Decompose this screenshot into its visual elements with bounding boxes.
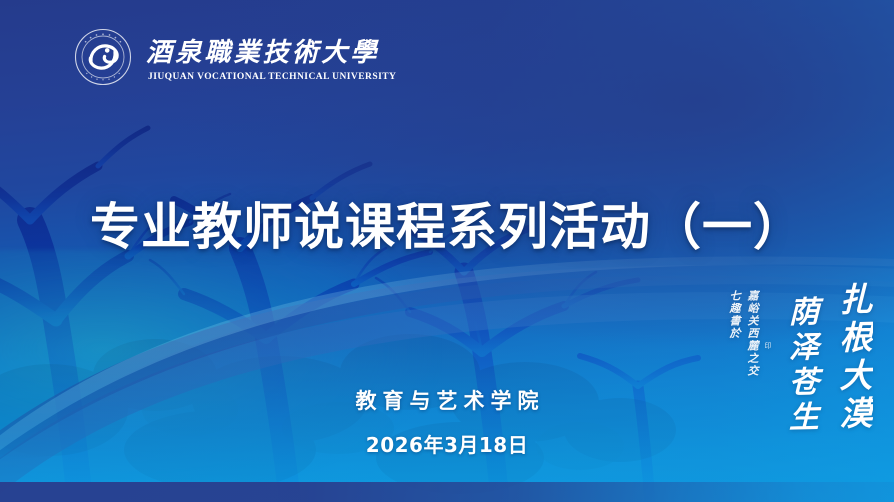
calligraphy-seal-icon: 印 (762, 342, 772, 378)
footer-bar (0, 482, 894, 502)
university-logo-header: 酒泉職業技術大學 JIUQUAN VOCATIONAL TECHNICAL UN… (74, 28, 396, 86)
university-seal-icon (74, 28, 132, 86)
university-wordmark: 酒泉職業技術大學 JIUQUAN VOCATIONAL TECHNICAL UN… (146, 33, 396, 82)
calligraphy-signature-group: 七趣書於 嘉峪关西麓之交 印 (726, 282, 772, 378)
university-name-cn: 酒泉職業技術大學 (146, 35, 394, 69)
page-title: 专业教师说课程系列活动（一） (0, 198, 894, 256)
swirl-figure-icon (90, 46, 117, 68)
university-name-cn-text: 酒泉職業技術大學 (146, 38, 380, 67)
calligraphy-column-2: 荫泽苍生 (778, 295, 822, 436)
calligraphy-signature-line-1: 七趣書於 (726, 290, 742, 378)
title-slide: 酒泉職業技術大學 JIUQUAN VOCATIONAL TECHNICAL UN… (0, 0, 894, 502)
calligraphy-motto: 七趣書於 嘉峪关西麓之交 印 荫泽苍生 扎根大漠 (726, 282, 876, 436)
university-name-en: JIUQUAN VOCATIONAL TECHNICAL UNIVERSITY (148, 72, 396, 82)
calligraphy-signature-line-2: 嘉峪关西麓之交 (744, 290, 760, 378)
calligraphy-column-1: 扎根大漠 (828, 281, 876, 434)
